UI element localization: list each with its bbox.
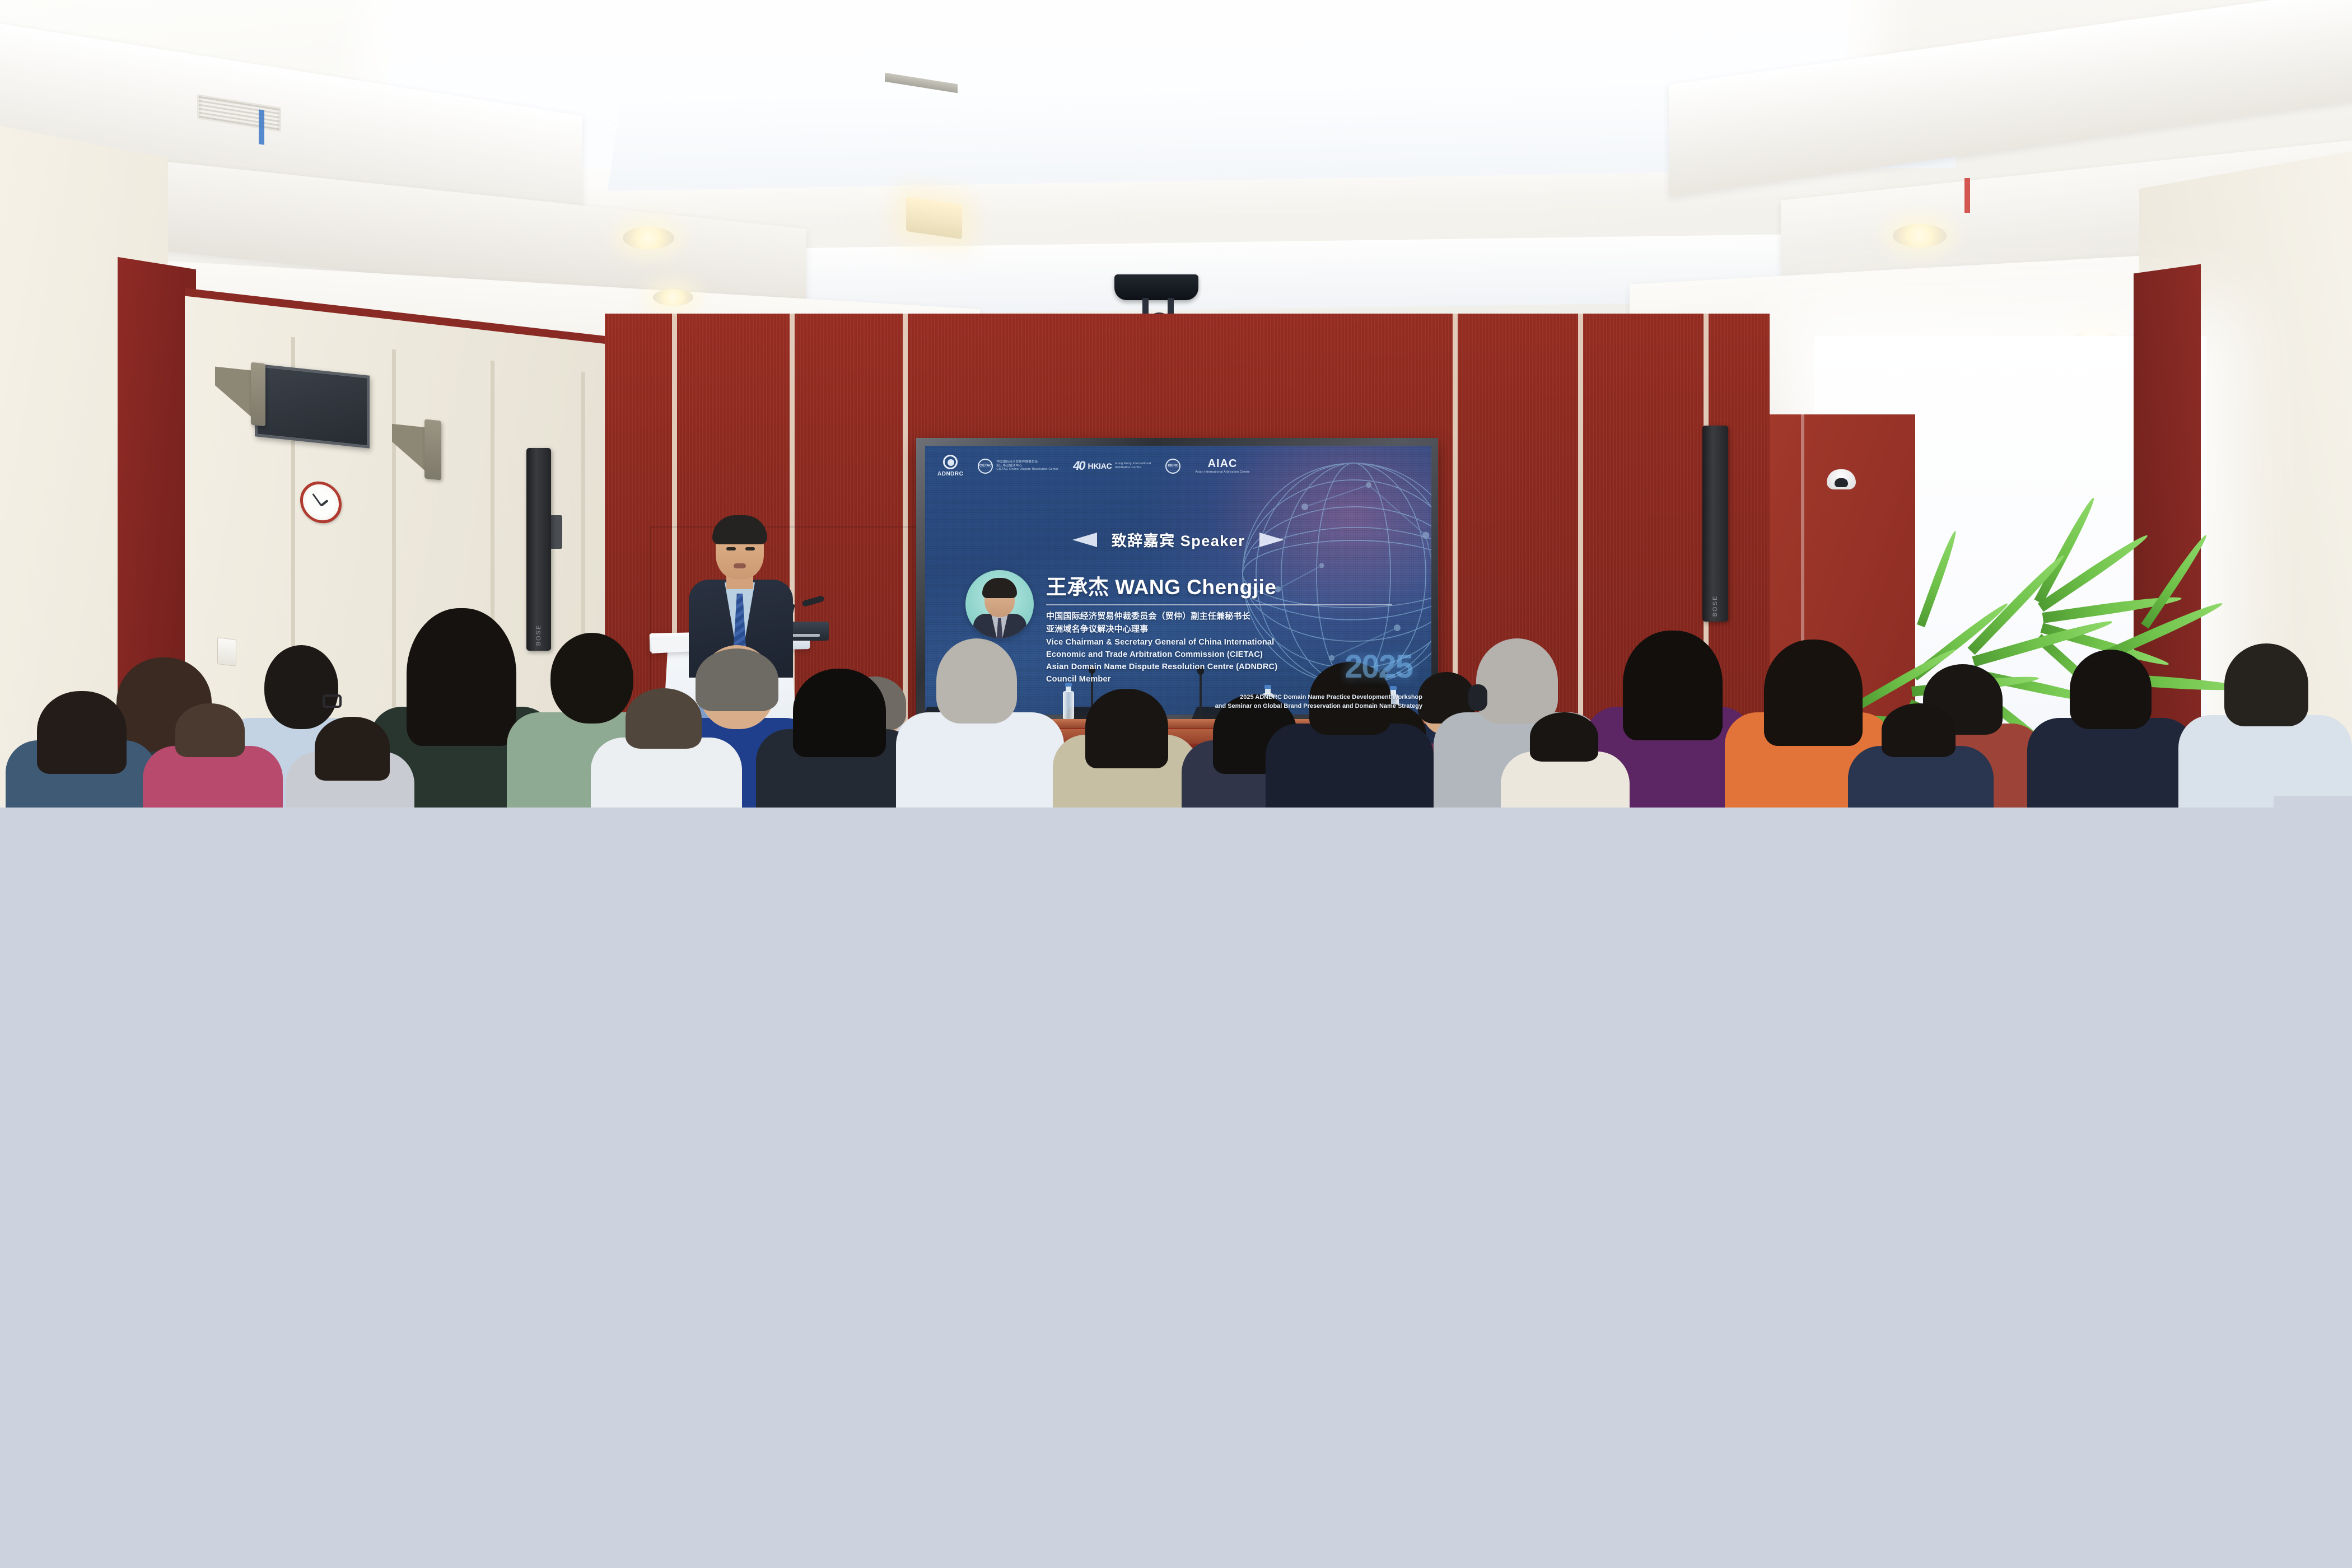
audience-person-20 <box>1848 704 1994 808</box>
bosch-wall-speaker-1 <box>251 362 265 427</box>
audience-person-21 <box>591 687 742 808</box>
photo-bottom-right-notch <box>2274 796 2352 808</box>
clock-minute-hand <box>312 493 322 506</box>
wall-mounted-monitor <box>255 363 370 449</box>
kidrc-seal-text: KIDRC <box>1168 464 1178 468</box>
logo-label-adndrc: ADNDRC <box>937 471 963 477</box>
logo-hkiac: 40 HKIAC Hong Kong International Arbitra… <box>1073 459 1151 473</box>
dome-security-camera <box>1827 469 1856 489</box>
audience-person-7 <box>143 701 283 808</box>
logo-kidrc: KIDRC <box>1165 459 1180 474</box>
logo-aiac: AIAC Asian International Arbitration Cen… <box>1195 458 1250 474</box>
audience-person-17 <box>2027 651 2195 808</box>
hair <box>1085 689 1168 768</box>
speaker-title-cn-2: 亚洲域名争议解决中心理事 <box>1046 623 1392 636</box>
audience-person-8 <box>756 668 918 808</box>
triangle-left-icon <box>1072 533 1097 547</box>
logo-sub-aiac: Asian International Arbitration Centre <box>1195 470 1250 474</box>
speaker-banner-label: 致辞嘉宾 Speaker <box>1112 529 1245 550</box>
speaker-title-en-3: Asian Domain Name Dispute Resolution Cen… <box>1046 661 1392 673</box>
speaker-title-cn-1: 中国国际经济贸易仲裁委员会（贸仲）副主任兼秘书长 <box>1046 610 1392 623</box>
speaker-name: 王承杰 WANG Chengjie <box>1046 570 1392 600</box>
head <box>626 688 702 749</box>
logo-sub-hkiac: Hong Kong International Arbitration Cent… <box>1115 462 1151 470</box>
head <box>2224 643 2308 726</box>
speaker-name-divider <box>1046 604 1392 605</box>
logo-sub-cietac: 中国国际经济贸易仲裁委员会 网上争议解决中心 CIETAC Online Dis… <box>996 460 1058 472</box>
speaker-title-en-1: Vice Chairman & Secretary General of Chi… <box>1046 636 1392 648</box>
led-screen-bezel: ADNDRC CIETAC 中国国际经济贸易仲裁委员会 网上争议解决中心 CIE… <box>916 438 1438 724</box>
logo-cietac: CIETAC 中国国际经济贸易仲裁委员会 网上争议解决中心 CIETAC Onl… <box>978 459 1058 474</box>
speaker-info-block: 王承杰 WANG Chengjie 中国国际经济贸易仲裁委员会（贸仲）副主任兼秘… <box>965 570 1392 685</box>
logo-label-hkiac: HKIAC <box>1088 461 1112 470</box>
blank-grey-area <box>0 808 2352 1568</box>
presenter-eye-right <box>745 547 755 550</box>
head <box>1530 712 1598 762</box>
hkiac-40th-badge: 40 <box>1073 459 1084 473</box>
portrait-hair <box>982 578 1017 598</box>
adndrc-mark-icon <box>943 455 958 469</box>
audience-person-18 <box>2178 645 2352 808</box>
audience-person-23 <box>1501 715 1630 808</box>
cietac-seal-text: CIETAC <box>979 464 992 468</box>
head <box>175 703 245 757</box>
speaker-title-en-4: Council Member <box>1046 673 1392 685</box>
audience-person-22 <box>286 715 414 808</box>
head <box>2070 650 2152 729</box>
speaker-banner: 致辞嘉宾 Speaker <box>925 529 1431 550</box>
cietac-seal-icon: CIETAC <box>978 459 993 474</box>
headphone-icon <box>1468 684 1487 711</box>
speaker-title-en-2: Economic and Trade Arbitration Commissio… <box>1046 648 1392 661</box>
audience-person-10 <box>1053 687 1198 808</box>
hair <box>793 669 886 757</box>
led-presentation-screen: ADNDRC CIETAC 中国国际经济贸易仲裁委员会 网上争议解决中心 CIE… <box>925 446 1431 715</box>
hair <box>407 608 516 746</box>
footer-line-2: and Seminar on Global Brand Preservation… <box>1215 702 1422 711</box>
head <box>1882 703 1956 757</box>
logo-label-aiac: AIAC <box>1195 458 1250 470</box>
led-screen-footer: 2025 ADNDRC Domain Name Practice Develop… <box>1215 693 1422 711</box>
glasses-icon <box>323 694 342 708</box>
bose-column-speaker-right <box>1702 426 1728 622</box>
audience-person-6 <box>6 690 157 808</box>
kidrc-seal-icon: KIDRC <box>1165 459 1180 474</box>
hair <box>37 691 127 774</box>
footer-line-1: 2025 ADNDRC Domain Name Practice Develop… <box>1215 693 1422 702</box>
head <box>1476 638 1558 724</box>
blue-ceiling-tag <box>259 109 264 145</box>
downlight-1 <box>623 227 674 249</box>
downlight-2 <box>1893 224 1947 248</box>
bosch-wall-speaker-2 <box>424 419 441 480</box>
body <box>2178 715 2352 808</box>
hair <box>1623 631 1723 740</box>
body <box>2027 718 2195 808</box>
speaker-text-column: 王承杰 WANG Chengjie 中国国际经济贸易仲裁委员会（贸仲）副主任兼秘… <box>1046 570 1392 685</box>
logo-adndrc: ADNDRC <box>937 455 963 477</box>
body <box>1266 724 1434 808</box>
ceiling-ptz-camera <box>1114 274 1198 300</box>
sponsor-logo-bar: ADNDRC CIETAC 中国国际经济贸易仲裁委员会 网上争议解决中心 CIE… <box>937 455 1250 477</box>
audience-person-19 <box>1266 668 1434 808</box>
downlight-5 <box>653 289 693 306</box>
hair <box>315 717 390 781</box>
presenter-mouth <box>734 563 746 568</box>
red-ceiling-tag <box>1964 178 1970 213</box>
triangle-right-icon <box>1259 533 1284 547</box>
speaker-portrait-photo <box>965 570 1034 638</box>
conference-photo: ADNDRC CIETAC 中国国际经济贸易仲裁委员会 网上争议解决中心 CIE… <box>0 0 2352 808</box>
body <box>896 712 1064 808</box>
screenshot-canvas: ADNDRC CIETAC 中国国际经济贸易仲裁委员会 网上争议解决中心 CIE… <box>0 0 2352 1568</box>
presenter-eye-left <box>726 547 736 550</box>
